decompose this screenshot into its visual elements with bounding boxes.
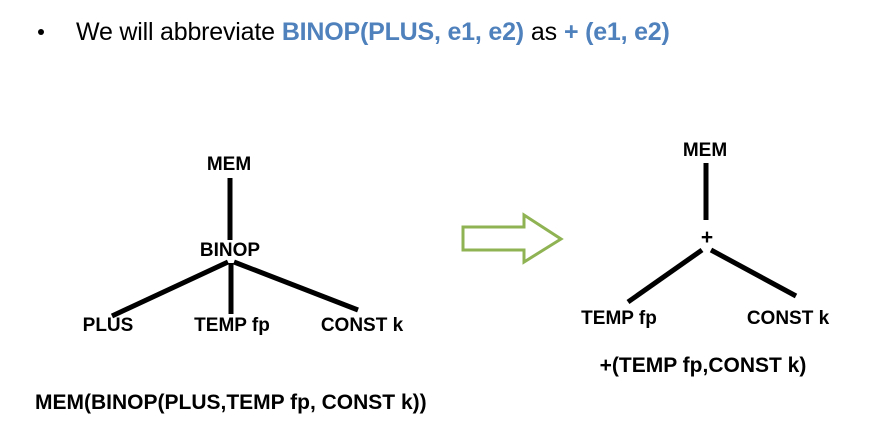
right-node-plus-operator: + [701, 228, 713, 248]
right-block-arrow-icon [463, 215, 561, 262]
left-edge-binop-to-const [234, 262, 358, 310]
left-edge-binop-to-plus [112, 262, 228, 316]
left-node-const-k: CONST k [321, 315, 403, 337]
right-edge-plus-to-temp [628, 250, 702, 302]
right-edge-plus-to-const [711, 250, 796, 296]
right-node-temp-fp: TEMP fp [581, 308, 657, 330]
left-node-mem: MEM [207, 154, 251, 176]
right-node-mem: MEM [683, 140, 727, 162]
tree-diagram: MEM BINOP PLUS TEMP fp CONST k MEM(BINOP… [0, 0, 873, 424]
right-node-const-k: CONST k [747, 308, 829, 330]
left-node-binop: BINOP [200, 240, 260, 262]
left-node-plus: PLUS [83, 315, 134, 337]
right-tree-caption: +(TEMP fp,CONST k) [600, 354, 807, 378]
left-tree-caption: MEM(BINOP(PLUS,TEMP fp, CONST k)) [35, 391, 427, 415]
left-node-temp-fp: TEMP fp [194, 315, 270, 337]
